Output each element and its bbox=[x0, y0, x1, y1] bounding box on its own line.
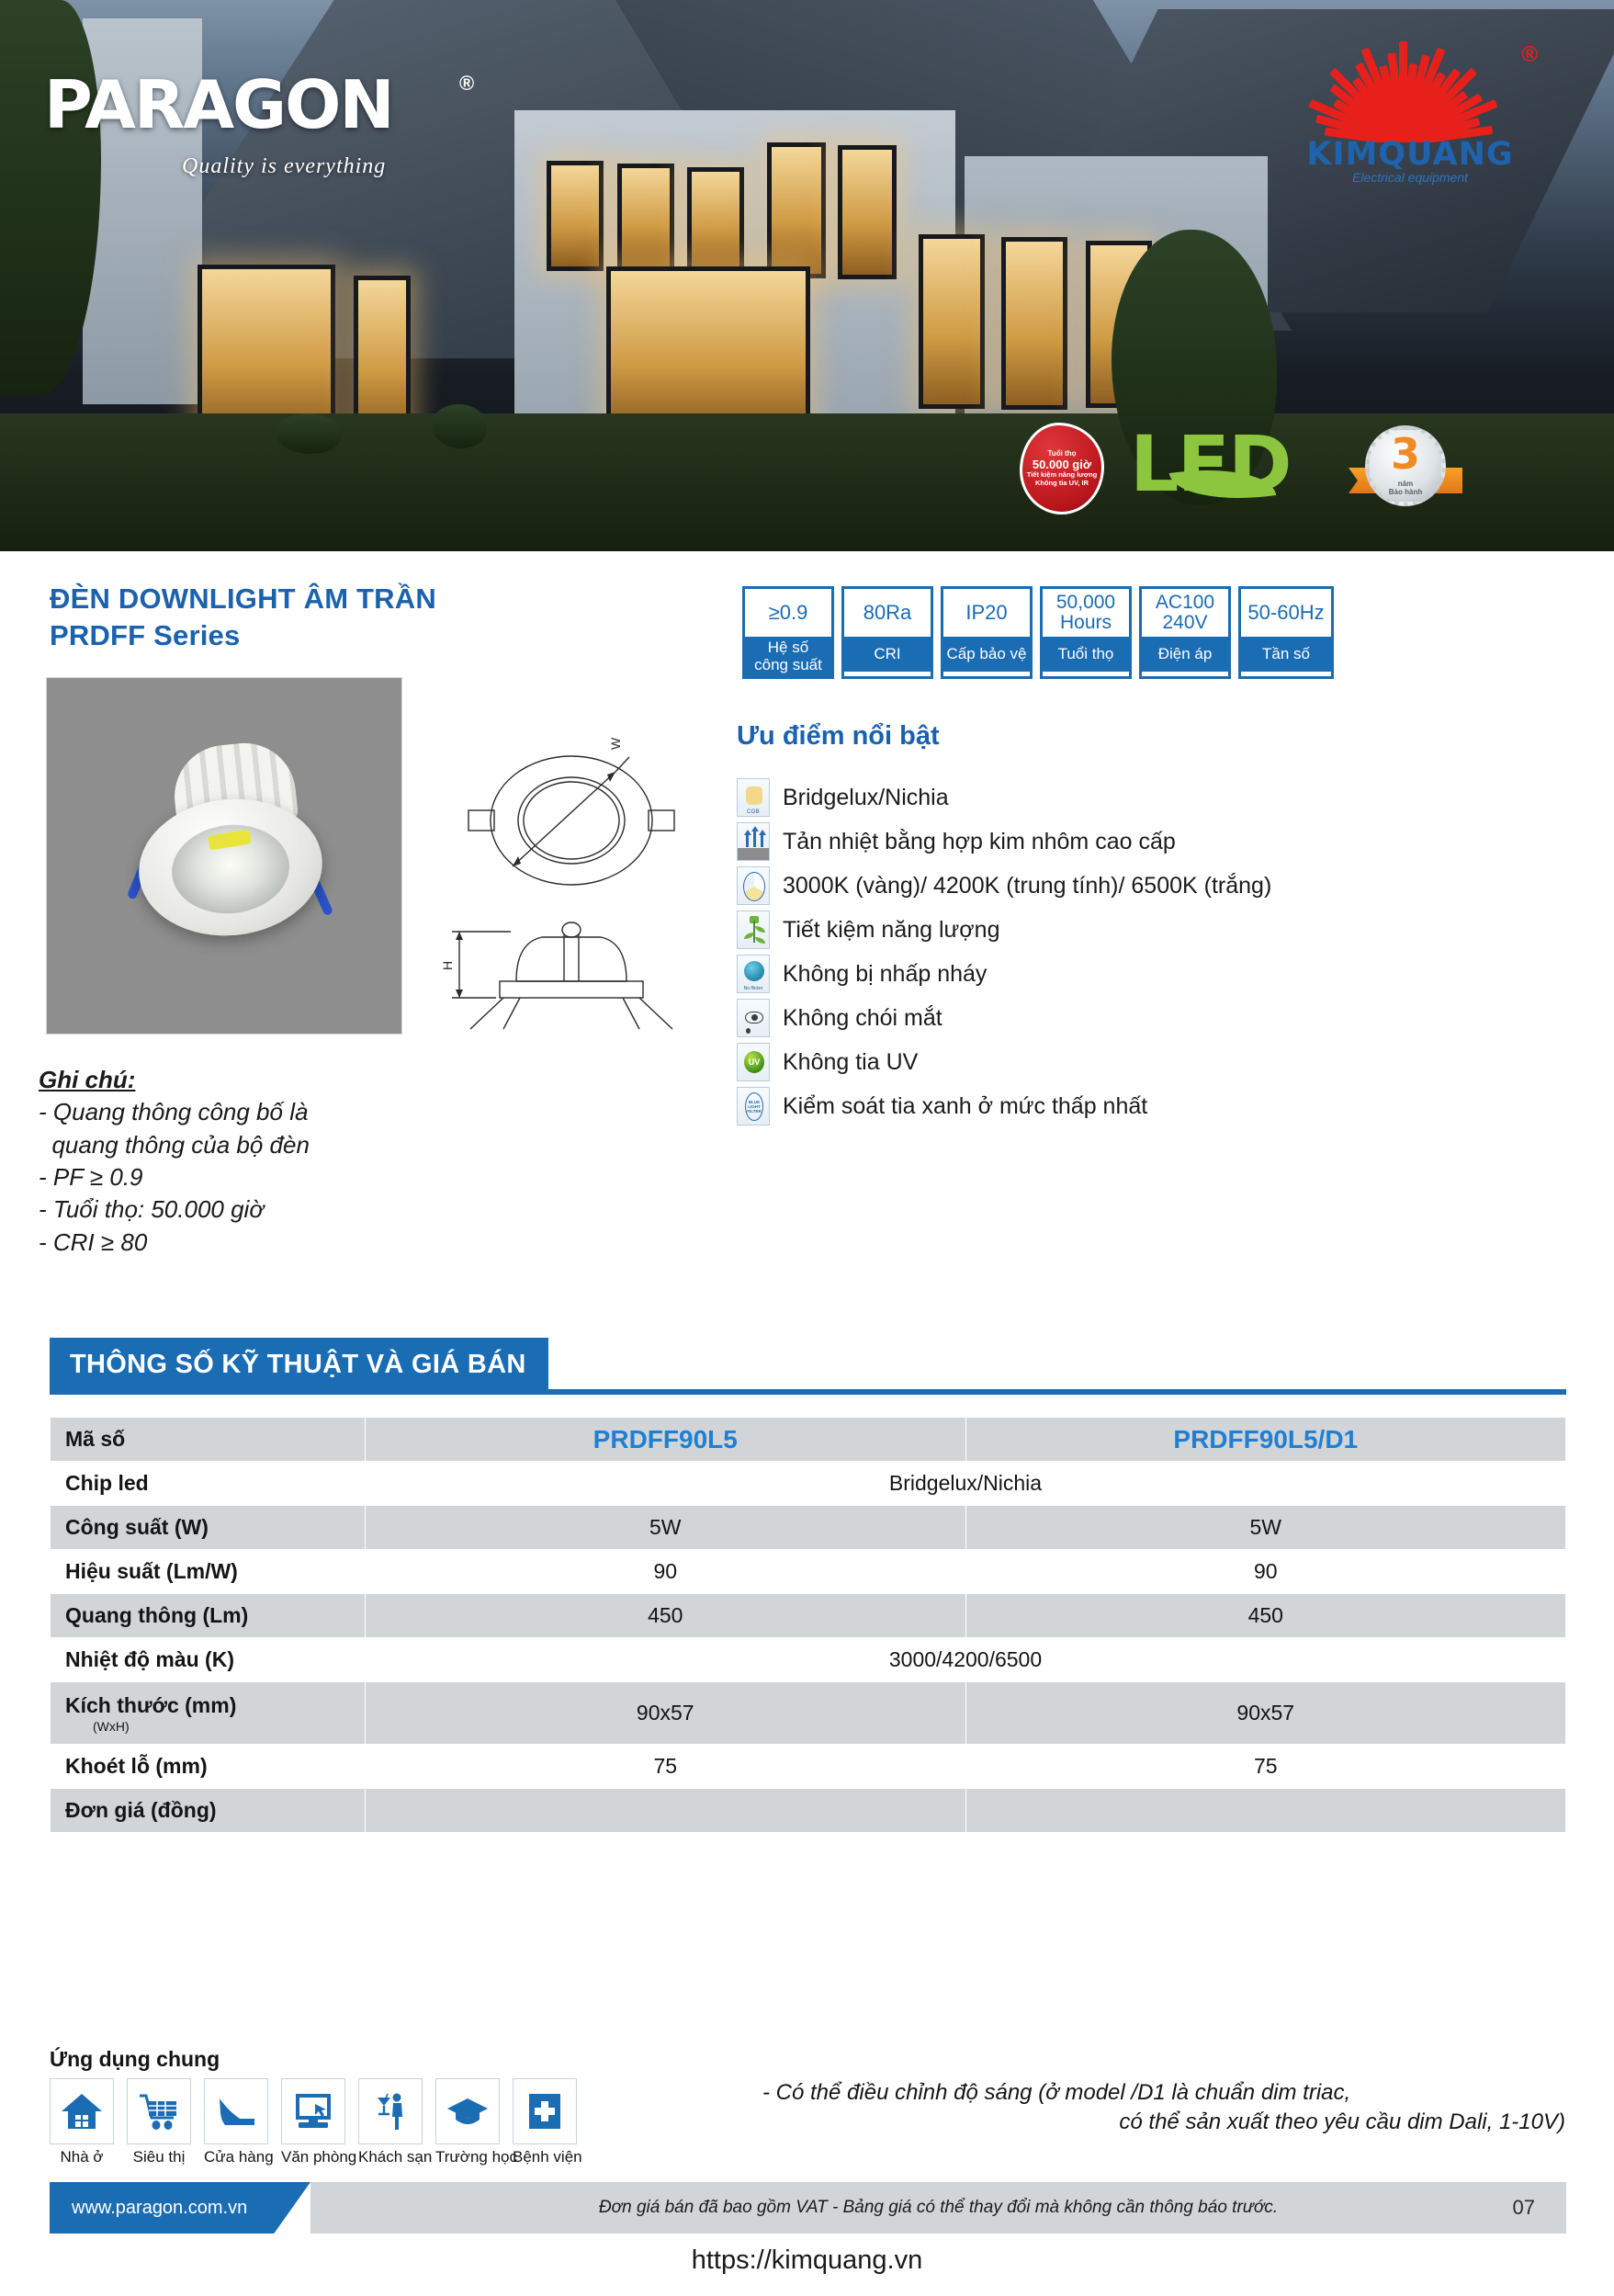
spec-label-text: Nhiệt độ màu (K) bbox=[65, 1647, 234, 1671]
spec-cell: 90x57 bbox=[965, 1682, 1566, 1745]
applications-row: Nhà ởSiêu thịCửa hàngVăn phòngKhách sạnT… bbox=[50, 2078, 577, 2166]
spec-badge-label: Tuổi thọ bbox=[1043, 637, 1129, 672]
spec-row-label: Quang thông (Lm) bbox=[51, 1594, 366, 1638]
technical-drawing: W H bbox=[432, 698, 707, 1066]
application-item: Văn phòng bbox=[281, 2078, 345, 2166]
energy-saving-icon bbox=[737, 910, 770, 949]
cob-chip-icon: COB bbox=[737, 778, 770, 817]
spec-badge-value: 80Ra bbox=[844, 589, 931, 637]
no-uv-icon: UV bbox=[737, 1043, 770, 1081]
spec-cell: 450 bbox=[366, 1594, 966, 1638]
blue-light-filter-icon: BLUE LIGHTFILTER bbox=[737, 1087, 770, 1125]
window bbox=[1001, 237, 1067, 410]
page-number: 07 bbox=[1513, 2196, 1535, 2220]
cob-die bbox=[746, 786, 762, 805]
feature-item: Không chói mắt bbox=[737, 997, 1563, 1039]
table-row: Chip ledBridgelux/Nichia bbox=[51, 1462, 1566, 1506]
blue-filter-ring: BLUE LIGHTFILTER bbox=[745, 1092, 763, 1121]
paragon-registered-icon: ® bbox=[459, 72, 474, 96]
window bbox=[838, 145, 897, 279]
spec-cell: 90 bbox=[965, 1550, 1566, 1594]
feature-label: Tiết kiệm năng lượng bbox=[783, 917, 999, 944]
spec-row-label: Khoét lỗ (mm) bbox=[51, 1745, 366, 1789]
medical-cross-icon bbox=[513, 2078, 577, 2144]
dimming-note-line2: có thể sản xuất theo yêu cầu dim Dali, 1… bbox=[762, 2108, 1571, 2137]
note-line: quang thông của bộ đèn bbox=[39, 1129, 310, 1161]
waiter-icon bbox=[358, 2078, 423, 2144]
application-label: Nhà ở bbox=[50, 2148, 114, 2166]
feature-item: COBBridgelux/Nichia bbox=[737, 776, 1563, 819]
table-row: Khoét lỗ (mm)7575 bbox=[51, 1745, 1566, 1789]
window bbox=[687, 167, 744, 274]
feature-label: Không chói mắt bbox=[783, 1005, 942, 1032]
section-banner: THÔNG SỐ KỸ THUẬT VÀ GIÁ BÁN bbox=[50, 1338, 548, 1391]
kimquang-name: KIMQUANG bbox=[1277, 136, 1543, 173]
note-line: - Quang thông công bố là bbox=[39, 1096, 310, 1128]
spec-badge-value: 50,000Hours bbox=[1043, 589, 1129, 637]
no-flicker-icon: No flicker bbox=[737, 955, 770, 993]
warranty-badge: 3 năm Bảo hành bbox=[1360, 424, 1451, 515]
leaf-shape bbox=[755, 937, 765, 944]
heat-arrow bbox=[753, 830, 756, 847]
table-row: Công suất (W)5W5W bbox=[51, 1506, 1566, 1550]
spec-cell bbox=[366, 1789, 966, 1833]
cob-text: COB bbox=[738, 809, 769, 815]
application-item: Trường học bbox=[435, 2078, 500, 2166]
notes-block: Ghi chú: - Quang thông công bố là quang … bbox=[39, 1064, 310, 1259]
kimquang-subtitle: Electrical equipment bbox=[1277, 170, 1543, 185]
table-row: Nhiệt độ màu (K)3000/4200/6500 bbox=[51, 1638, 1566, 1682]
spec-badge-label: Cấp bảo vệ bbox=[943, 637, 1030, 672]
feature-item: 3000K (vàng)/ 4200K (trung tính)/ 6500K … bbox=[737, 865, 1563, 907]
heatsink-base bbox=[738, 848, 769, 860]
spec-row-label: Công suất (W) bbox=[51, 1506, 366, 1550]
warranty-label: năm Bảo hành bbox=[1365, 481, 1446, 497]
spec-cell: 450 bbox=[965, 1594, 1566, 1638]
product-photo bbox=[46, 677, 402, 1035]
feature-item: Tản nhiệt bằng hợp kim nhôm cao cấp bbox=[737, 820, 1563, 863]
spec-label-text: Đơn giá (đồng) bbox=[65, 1798, 217, 1822]
features-heading: Ưu điểm nổi bật bbox=[737, 721, 940, 752]
window-large-center bbox=[606, 266, 810, 434]
note-line: - CRI ≥ 80 bbox=[39, 1227, 310, 1259]
leaf-shape bbox=[755, 926, 765, 933]
spec-label-text: Quang thông (Lm) bbox=[65, 1603, 248, 1627]
dimming-note: - Có thể điều chỉnh độ sáng (ở model /D1… bbox=[762, 2078, 1571, 2138]
applications-heading: Ứng dụng chung bbox=[50, 2047, 220, 2072]
flicker-text: No flicker bbox=[738, 986, 769, 991]
website-link[interactable]: www.paragon.com.vn bbox=[50, 2182, 310, 2234]
feature-label: Kiểm soát tia xanh ở mức thấp nhất bbox=[783, 1093, 1147, 1120]
product-title-line1: ĐÈN DOWNLIGHT ÂM TRẦN bbox=[50, 581, 436, 617]
warranty-word: Bảo hành bbox=[1389, 488, 1422, 496]
notes-heading: Ghi chú: bbox=[39, 1064, 310, 1096]
footer-note: Đơn giá bán đã bao gồm VAT - Bảng giá có… bbox=[599, 2198, 1278, 2218]
table-row: Hiệu suất (Lm/W)9090 bbox=[51, 1550, 1566, 1594]
width-dimension-label: W bbox=[608, 737, 623, 750]
application-label: Khách sạn bbox=[358, 2148, 423, 2166]
graduation-cap-icon bbox=[435, 2078, 500, 2144]
product-title-line2: PRDFF Series bbox=[50, 617, 436, 654]
paragon-logo: PARAGON bbox=[44, 72, 393, 138]
high-heel-shoe-icon bbox=[204, 2078, 268, 2144]
spec-label-text: Kích thước (mm) bbox=[65, 1693, 236, 1717]
kimquang-logo: ® KIMQUANG Electrical equipment bbox=[1277, 37, 1543, 188]
height-dimension-label: H bbox=[440, 961, 455, 970]
window bbox=[767, 142, 826, 278]
spec-label-text: Mã số bbox=[65, 1427, 125, 1451]
bush bbox=[276, 413, 342, 454]
window bbox=[547, 161, 604, 271]
spec-badge-value: AC100240V bbox=[1142, 589, 1228, 637]
feature-label: Bridgelux/Nichia bbox=[783, 785, 949, 811]
spec-cell: 75 bbox=[366, 1745, 966, 1789]
notes-lines: - Quang thông công bố là quang thông của… bbox=[39, 1096, 310, 1259]
model-code-header: PRDFF90L5 bbox=[366, 1418, 966, 1462]
blue-filter-text: BLUE LIGHTFILTER bbox=[746, 1100, 762, 1114]
spec-cell-merged: Bridgelux/Nichia bbox=[366, 1462, 1566, 1506]
shopping-cart-icon bbox=[127, 2078, 191, 2144]
seal-line-2: 50.000 giờ bbox=[1022, 458, 1101, 472]
dimming-note-line1: - Có thể điều chỉnh độ sáng (ở model /D1… bbox=[762, 2078, 1571, 2108]
eye-pupil bbox=[751, 1014, 758, 1021]
spec-cell: 90 bbox=[366, 1550, 966, 1594]
dimension-drawing-svg: W H bbox=[432, 698, 707, 1066]
warranty-years: 3 bbox=[1365, 429, 1446, 484]
sunburst-fan-icon bbox=[1295, 37, 1507, 142]
spec-badge-label: Hệ sốcông suất bbox=[745, 637, 831, 676]
application-item: Cửa hàng bbox=[204, 2078, 268, 2166]
spec-cell: 5W bbox=[965, 1506, 1566, 1550]
application-label: Cửa hàng bbox=[204, 2148, 268, 2166]
heat-arrow bbox=[746, 833, 749, 847]
distributor-url[interactable]: https://kimquang.vn bbox=[0, 2245, 1614, 2276]
seal-line-4: Không tia UV, IR bbox=[1022, 480, 1101, 488]
page-title: ĐÈN DOWNLIGHT ÂM TRẦN PRDFF Series bbox=[50, 581, 436, 653]
spec-row-label: Đơn giá (đồng) bbox=[51, 1789, 366, 1833]
spec-cell: 75 bbox=[965, 1745, 1566, 1789]
application-item: Khách sạn bbox=[358, 2078, 423, 2166]
section-rule bbox=[50, 1389, 1566, 1395]
spec-row-label: Chip led bbox=[51, 1462, 366, 1506]
no-glare-eye-icon bbox=[737, 999, 770, 1037]
window bbox=[919, 234, 985, 409]
spec-cell: 90x57 bbox=[366, 1682, 966, 1745]
spec-row-label: Hiệu suất (Lm/W) bbox=[51, 1550, 366, 1594]
eye-drop bbox=[746, 1028, 751, 1034]
lifetime-badge: 50,000HoursTuổi thọ bbox=[1040, 586, 1132, 679]
color-temperature-icon bbox=[737, 866, 770, 905]
note-line: - PF ≥ 0.9 bbox=[39, 1161, 310, 1193]
table-row: Quang thông (Lm)450450 bbox=[51, 1594, 1566, 1638]
spec-cell-merged: 3000/4200/6500 bbox=[366, 1638, 1566, 1682]
feature-label: Không bị nhấp nháy bbox=[783, 961, 987, 988]
table-row: Đơn giá (đồng) bbox=[51, 1789, 1566, 1833]
window-left-wing bbox=[198, 265, 335, 437]
spec-label-text: Hiệu suất (Lm/W) bbox=[65, 1559, 238, 1583]
application-label: Trường học bbox=[435, 2148, 500, 2166]
downlight-render bbox=[131, 744, 330, 937]
spec-label-text: Khoét lỗ (mm) bbox=[65, 1754, 208, 1778]
datasheet-page: PARAGON ® Quality is everything ® KIMQUA… bbox=[0, 0, 1614, 2296]
spec-badge-row: ≥0.9Hệ sốcông suất80RaCRIIP20Cấp bảo vệ5… bbox=[742, 586, 1334, 679]
power-factor-badge: ≥0.9Hệ sốcông suất bbox=[742, 586, 834, 679]
features-list: COBBridgelux/NichiaTản nhiệt bằng hợp ki… bbox=[737, 776, 1563, 1129]
spec-label-text: Công suất (W) bbox=[65, 1515, 209, 1539]
application-label: Siêu thị bbox=[127, 2148, 191, 2166]
uv-badge: UV bbox=[744, 1051, 764, 1073]
feature-item: No flickerKhông bị nhấp nháy bbox=[737, 953, 1563, 995]
bush bbox=[432, 404, 487, 448]
spec-badge-label: CRI bbox=[844, 637, 931, 672]
spec-label-text: Chip led bbox=[65, 1471, 149, 1495]
cri-badge: 80RaCRI bbox=[841, 586, 933, 679]
house-icon bbox=[50, 2078, 114, 2144]
footer-bar: Đơn giá bán đã bao gồm VAT - Bảng giá có… bbox=[310, 2182, 1566, 2234]
page-footer: www.paragon.com.vn Đơn giá bán đã bao gồ… bbox=[0, 2182, 1614, 2234]
spec-row-label: Nhiệt độ màu (K) bbox=[51, 1638, 366, 1682]
table-row: Mã sốPRDFF90L5PRDFF90L5/D1 bbox=[51, 1418, 1566, 1462]
voltage-badge: AC100240VĐiện áp bbox=[1139, 586, 1231, 679]
heat-dissipation-icon bbox=[737, 822, 770, 861]
heat-arrow bbox=[761, 833, 763, 847]
window bbox=[617, 164, 674, 272]
feature-item: Tiết kiệm năng lượng bbox=[737, 909, 1563, 951]
note-line: - Tuổi thọ: 50.000 giờ bbox=[39, 1193, 310, 1226]
spec-badge-value: ≥0.9 bbox=[745, 589, 831, 637]
cct-wheel bbox=[743, 872, 765, 901]
spec-cell: 5W bbox=[366, 1506, 966, 1550]
application-label: Bệnh viện bbox=[513, 2148, 577, 2166]
spec-badge-label: Điện áp bbox=[1142, 637, 1228, 672]
frequency-badge: 50-60HzTần số bbox=[1238, 586, 1334, 679]
spec-label-sublabel: (WxH) bbox=[93, 1719, 365, 1734]
feature-label: Không tia UV bbox=[783, 1049, 918, 1076]
feature-item: UVKhông tia UV bbox=[737, 1041, 1563, 1083]
feature-label: Tản nhiệt bằng hợp kim nhôm cao cấp bbox=[783, 829, 1176, 855]
feature-label: 3000K (vàng)/ 4200K (trung tính)/ 6500K … bbox=[783, 873, 1271, 899]
warranty-unit: năm bbox=[1398, 480, 1413, 488]
lifetime-seal-badge: Tuổi thọ 50.000 giờ Tiết kiệm năng lượng… bbox=[1020, 423, 1104, 515]
feature-item: BLUE LIGHTFILTERKiểm soát tia xanh ở mức… bbox=[737, 1085, 1563, 1127]
desktop-monitor-icon bbox=[281, 2078, 345, 2144]
hero-banner: PARAGON ® Quality is everything ® KIMQUA… bbox=[0, 0, 1614, 551]
application-label: Văn phòng bbox=[281, 2148, 345, 2166]
application-item: Siêu thị bbox=[127, 2078, 191, 2166]
globe-shape bbox=[744, 961, 764, 981]
application-item: Nhà ở bbox=[50, 2078, 114, 2166]
paragon-tagline: Quality is everything bbox=[182, 154, 386, 179]
spec-badge-value: IP20 bbox=[943, 589, 1030, 637]
spec-row-label: Kích thước (mm)(WxH) bbox=[51, 1682, 366, 1745]
table-row: Kích thước (mm)(WxH)90x5790x57 bbox=[51, 1682, 1566, 1745]
specifications-table: Mã sốPRDFF90L5PRDFF90L5/D1Chip ledBridge… bbox=[50, 1417, 1566, 1833]
spec-badge-value: 50-60Hz bbox=[1241, 589, 1331, 637]
model-code-header: PRDFF90L5/D1 bbox=[965, 1418, 1566, 1462]
spec-badge-label: Tần số bbox=[1241, 637, 1331, 672]
spec-row-label: Mã số bbox=[51, 1418, 366, 1462]
ip-rating-badge: IP20Cấp bảo vệ bbox=[941, 586, 1033, 679]
application-item: Bệnh viện bbox=[513, 2078, 577, 2166]
spec-cell bbox=[965, 1789, 1566, 1833]
kimquang-registered-icon: ® bbox=[1521, 42, 1538, 68]
hero-badge-row: Tuổi thọ 50.000 giờ Tiết kiệm năng lượng… bbox=[1001, 418, 1461, 528]
